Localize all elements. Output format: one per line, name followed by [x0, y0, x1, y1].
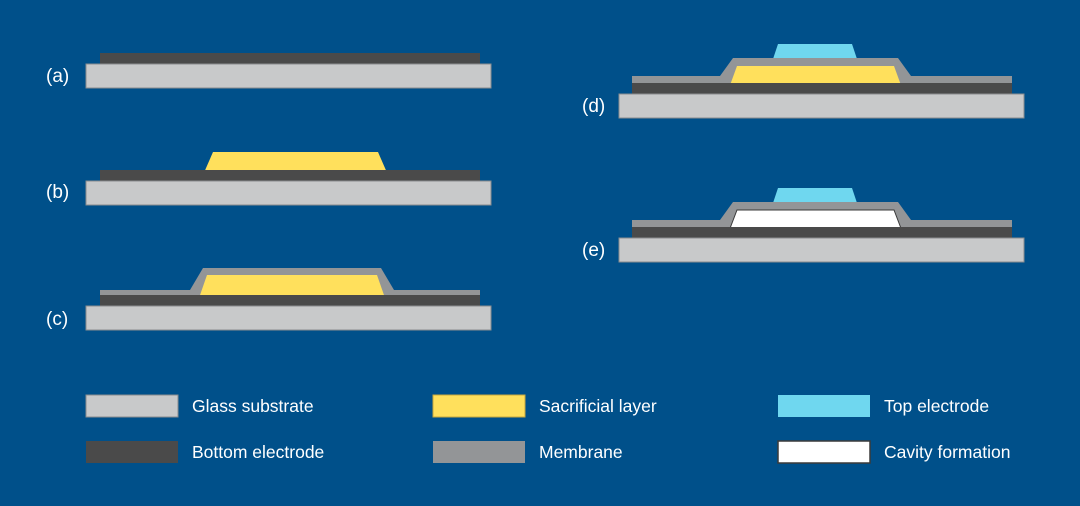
panel-b-bottom-electrode [100, 170, 480, 182]
legend-swatch-bottom-electrode [86, 441, 178, 463]
legend-swatch-glass-substrate [86, 395, 178, 417]
legend-swatch-top-electrode [778, 395, 870, 417]
legend-item-glass-substrate: Glass substrate [86, 395, 314, 417]
legend-text-bottom-electrode: Bottom electrode [192, 442, 324, 462]
panel-a-label: (a) [46, 66, 69, 87]
legend-item-top-electrode: Top electrode [778, 395, 989, 417]
panel-e-bottom-electrode [632, 227, 1012, 239]
legend-item-sacrificial-layer: Sacrificial layer [433, 395, 657, 417]
legend-swatch-cavity-formation [778, 441, 870, 463]
panel-c-bottom-electrode [100, 295, 480, 307]
panel-a-glass-substrate [86, 64, 491, 88]
panel-e-label: (e) [582, 240, 605, 261]
legend-text-glass-substrate: Glass substrate [192, 396, 314, 416]
panel-c-glass-substrate [86, 306, 491, 330]
panel-b-glass-substrate [86, 181, 491, 205]
legend-swatch-sacrificial-layer [433, 395, 525, 417]
legend-item-cavity-formation: Cavity formation [778, 441, 1010, 463]
panel-e-glass-substrate [619, 238, 1024, 262]
panel-a-bottom-electrode [100, 53, 480, 65]
legend-item-bottom-electrode: Bottom electrode [86, 441, 324, 463]
panel-c-label: (c) [46, 309, 68, 330]
legend-text-cavity-formation: Cavity formation [884, 442, 1010, 462]
panel-d-bottom-electrode [632, 83, 1012, 95]
legend-swatch-membrane [433, 441, 525, 463]
legend-text-membrane: Membrane [539, 442, 623, 462]
legend-text-top-electrode: Top electrode [884, 396, 989, 416]
panel-d-glass-substrate [619, 94, 1024, 118]
panel-a: (a) [46, 53, 491, 88]
process-flow-diagram: (a) (b) (c) (d) [0, 0, 1080, 506]
legend-text-sacrificial-layer: Sacrificial layer [539, 396, 657, 416]
panel-c-sacrificial-layer [199, 275, 385, 298]
panel-d-label: (d) [582, 96, 605, 117]
panel-b-label: (b) [46, 182, 69, 203]
